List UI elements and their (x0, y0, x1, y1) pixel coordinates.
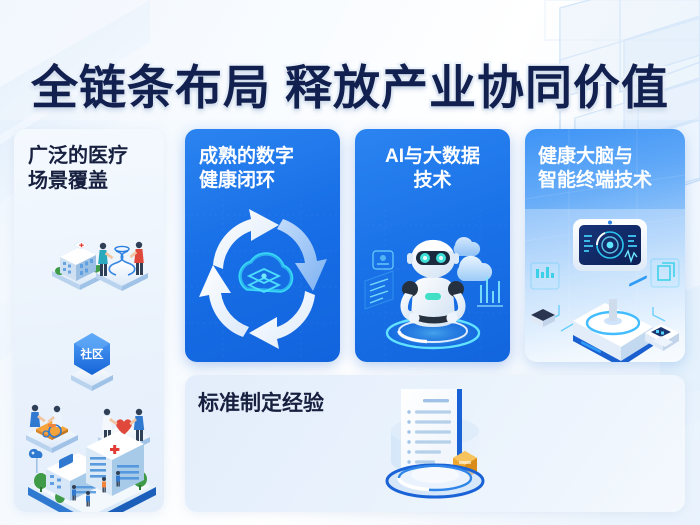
card-standard-setting-experience[interactable]: 标准制定经验 (185, 375, 685, 512)
illustration-ai-robot (359, 207, 507, 357)
card-health-brain-terminal[interactable]: 健康大脑与 智能终端技术 (525, 129, 685, 362)
card-title-ai-big-data: AI与大数据 技术 (355, 145, 510, 192)
card-ai-big-data[interactable]: AI与大数据 技术 (355, 129, 510, 362)
card-title-health-brain-terminal: 健康大脑与 智能终端技术 (538, 145, 652, 192)
card-digital-health-loop[interactable]: 成熟的数字 健康闭环 (185, 129, 340, 362)
card-title-standard-setting-experience: 标准制定经验 (198, 391, 324, 417)
illustration-document-certificate (365, 385, 525, 507)
card-title-digital-health-loop: 成熟的数字 健康闭环 (199, 145, 294, 192)
card-title-broad-medical-coverage: 广泛的医疗 场景覆盖 (28, 144, 128, 194)
illustration-medical-scenes: 社区 (14, 207, 164, 512)
card-broad-medical-coverage[interactable]: 广泛的医疗 场景覆盖 (14, 129, 164, 512)
community-badge-label: 社区 (80, 347, 104, 361)
illustration-smart-terminal (525, 209, 685, 362)
page-title: 全链条布局 释放产业协同价值 (0, 52, 700, 114)
illustration-cycle-cloud (195, 203, 331, 353)
